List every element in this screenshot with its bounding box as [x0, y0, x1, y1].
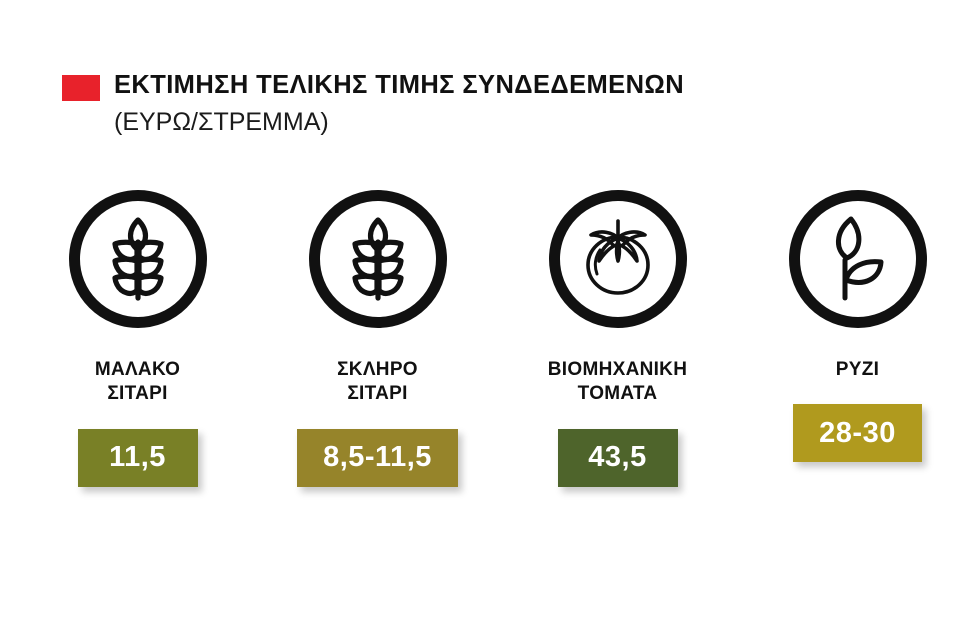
- crop-column-skliro-sitari: ΣΚΛΗΡΟ ΣΙΤΑΡΙ 8,5-11,5: [275, 190, 480, 487]
- crop-column-viomichaniki-tomata: ΒΙΟΜΗΧΑΝΙΚΗ ΤΟΜΑΤΑ 43,5: [515, 190, 720, 487]
- crop-icon-circle: [309, 190, 447, 328]
- wheat-icon: [342, 216, 414, 302]
- crop-label: ΜΑΛΑΚΟ ΣΙΤΑΡΙ: [95, 358, 180, 407]
- value-bar: 8,5-11,5: [297, 429, 458, 487]
- crop-label-line1: ΜΑΛΑΚΟ: [95, 359, 180, 380]
- crop-column-ryzi: ΡΥΖΙ 28-30: [755, 190, 960, 487]
- tomato-icon: [575, 218, 661, 300]
- crop-label: ΒΙΟΜΗΧΑΝΙΚΗ ΤΟΜΑΤΑ: [548, 358, 687, 407]
- crop-column-malako-sitari: ΜΑΛΑΚΟ ΣΙΤΑΡΙ 11,5: [35, 190, 240, 487]
- crop-label-line2: ΤΟΜΑΤΑ: [548, 382, 687, 406]
- header: ΕΚΤΙΜΗΣΗ ΤΕΛΙΚΗΣ ΤΙΜΗΣ ΣΥΝΔΕΔΕΜΕΝΩΝ (ΕΥΡ…: [62, 72, 922, 135]
- title-row: ΕΚΤΙΜΗΣΗ ΤΕΛΙΚΗΣ ΤΙΜΗΣ ΣΥΝΔΕΔΕΜΕΝΩΝ: [62, 72, 922, 101]
- crop-label-line1: ΡΥΖΙ: [836, 359, 879, 380]
- page-subtitle: (ΕΥΡΩ/ΣΤΡΕΜΜΑ): [114, 109, 922, 135]
- value-bar: 43,5: [558, 429, 678, 487]
- rice-sprout-icon: [825, 216, 891, 302]
- crop-label-line1: ΒΙΟΜΗΧΑΝΙΚΗ: [548, 359, 687, 380]
- wheat-icon: [102, 216, 174, 302]
- infographic-root: ΕΚΤΙΜΗΣΗ ΤΕΛΙΚΗΣ ΤΙΜΗΣ ΣΥΝΔΕΔΕΜΕΝΩΝ (ΕΥΡ…: [0, 0, 960, 620]
- value-text: 28-30: [819, 417, 896, 450]
- crop-icon-circle: [789, 190, 927, 328]
- value-bar: 11,5: [78, 429, 198, 487]
- value-text: 43,5: [588, 441, 646, 474]
- crop-label: ΣΚΛΗΡΟ ΣΙΤΑΡΙ: [337, 358, 418, 407]
- crop-icon-circle: [69, 190, 207, 328]
- value-text: 11,5: [109, 441, 166, 474]
- crop-columns: ΜΑΛΑΚΟ ΣΙΤΑΡΙ 11,5: [0, 190, 960, 487]
- crop-label-line1: ΣΚΛΗΡΟ: [337, 359, 418, 380]
- red-square-marker-icon: [62, 75, 100, 101]
- crop-icon-circle: [549, 190, 687, 328]
- crop-label-line2: ΣΙΤΑΡΙ: [95, 382, 180, 406]
- crop-label: ΡΥΖΙ: [836, 358, 879, 382]
- value-bar: 28-30: [793, 404, 922, 462]
- crop-label-line2: ΣΙΤΑΡΙ: [337, 382, 418, 406]
- value-text: 8,5-11,5: [323, 441, 432, 474]
- page-title: ΕΚΤΙΜΗΣΗ ΤΕΛΙΚΗΣ ΤΙΜΗΣ ΣΥΝΔΕΔΕΜΕΝΩΝ: [114, 72, 684, 99]
